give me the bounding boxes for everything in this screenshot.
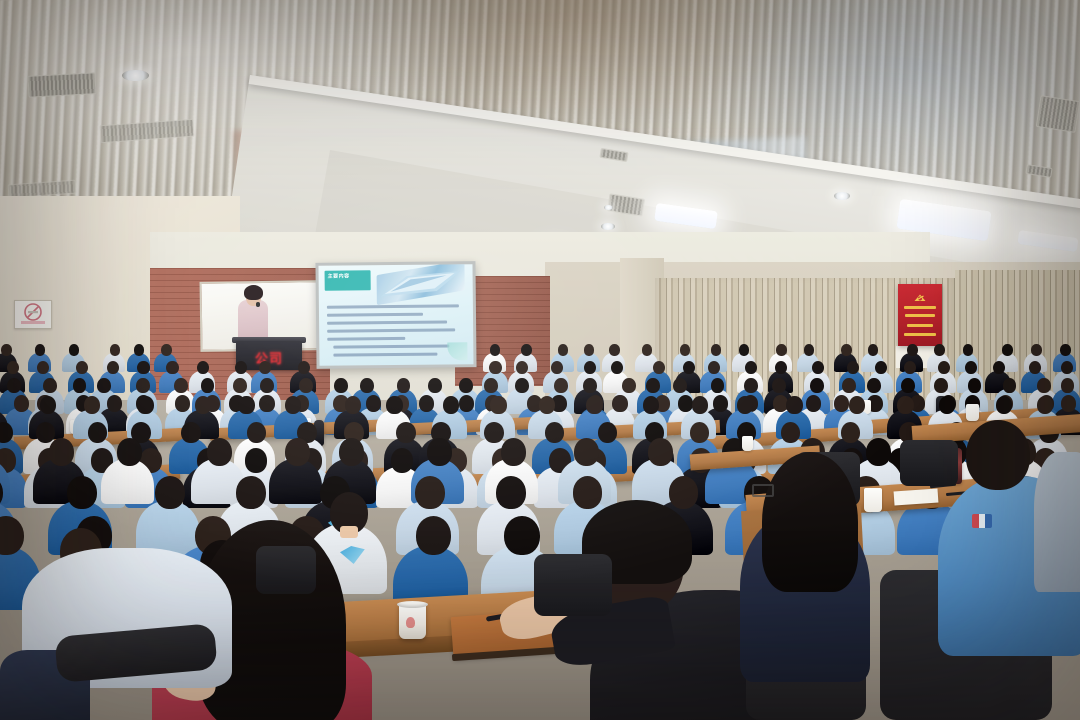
audience-head <box>360 378 374 393</box>
polo-logo-icon <box>972 514 992 528</box>
audience-head <box>7 378 21 393</box>
audience-head <box>1031 344 1042 356</box>
audience-head <box>574 438 599 466</box>
presenter-hair <box>244 285 263 300</box>
audience-head <box>14 395 29 412</box>
audience-head <box>117 438 142 466</box>
ceiling-vent <box>27 72 96 98</box>
audience-head <box>611 361 623 374</box>
audience-neck <box>200 372 206 376</box>
audience-head <box>516 361 528 374</box>
audience-neck <box>76 390 82 394</box>
audience-head <box>490 396 506 414</box>
audience-head <box>175 395 190 412</box>
audience-head <box>612 395 627 412</box>
audience-head <box>1037 378 1051 393</box>
ceiling-downlight <box>601 223 615 230</box>
audience-head <box>598 422 617 443</box>
banner-text-line <box>905 314 935 317</box>
audience-head <box>207 438 232 466</box>
audience-head <box>539 396 555 414</box>
audience-head <box>69 344 80 356</box>
audience-head <box>137 361 149 374</box>
audience-neck <box>1041 411 1048 416</box>
audience-neck <box>504 503 518 512</box>
slide-body-line <box>327 328 455 332</box>
audience-neck <box>677 503 691 512</box>
microphone-icon <box>256 302 260 307</box>
slide-body-line <box>327 337 405 341</box>
audience-head <box>386 396 402 414</box>
slide-header: 主要内容 <box>325 269 467 298</box>
paper-cup-rim <box>397 601 428 608</box>
audience-head <box>396 422 415 443</box>
audience-neck <box>508 460 519 468</box>
audience-head <box>849 396 865 414</box>
audience-head <box>739 344 750 356</box>
audience-head <box>642 344 653 356</box>
audience-head <box>236 476 266 509</box>
paper-cup-logo <box>406 617 415 628</box>
audience-head <box>586 396 602 414</box>
audience-head <box>1061 378 1075 393</box>
audience-head <box>489 361 501 374</box>
audience-head <box>260 378 274 393</box>
audience-head <box>584 361 596 374</box>
audience-head <box>966 420 1030 490</box>
audience-head <box>233 378 247 393</box>
lecture-hall-photo: 主要内容 <box>0 0 1080 720</box>
audience-head <box>181 422 200 443</box>
audience-head <box>134 344 145 356</box>
slide-body-line <box>333 353 437 357</box>
audience-head <box>484 422 503 443</box>
party-emblem-icon <box>913 291 928 302</box>
slide-title-badge: 主要内容 <box>325 270 371 290</box>
audience-head <box>558 344 569 356</box>
audience-head <box>683 361 695 374</box>
banner-text-line <box>904 333 936 336</box>
audience-head <box>673 378 687 393</box>
audience-neck <box>741 411 748 416</box>
audience-head <box>609 344 620 356</box>
audience-head <box>745 361 757 374</box>
audience-head <box>259 361 271 374</box>
audience-head <box>195 396 211 414</box>
audience-head <box>339 438 364 466</box>
audience-head <box>110 344 121 356</box>
audience-head <box>573 476 603 509</box>
audience-neck <box>56 460 67 468</box>
audience-head <box>708 361 720 374</box>
party-banner <box>898 284 942 346</box>
slide-body-line <box>327 320 447 324</box>
ceiling-downlight <box>604 205 613 210</box>
audience-head <box>772 378 786 393</box>
audience-neck <box>340 526 358 538</box>
black-office-chair <box>900 440 958 486</box>
audience-head <box>391 448 413 473</box>
audience-head <box>786 396 802 414</box>
audience-neck <box>238 372 244 376</box>
audience-head <box>521 344 532 356</box>
audience-neck <box>941 372 947 376</box>
audience-head <box>643 396 659 414</box>
audience-head <box>136 378 150 393</box>
audience-neck <box>291 460 302 468</box>
audience-head <box>963 344 974 356</box>
ceiling-vent <box>1036 95 1080 133</box>
audience-head <box>781 422 800 443</box>
audience-head <box>1 344 12 356</box>
audience-head <box>419 395 434 412</box>
audience-head <box>648 438 673 466</box>
audience-head <box>867 378 881 393</box>
audience-neck <box>779 372 785 376</box>
projection-screen[interactable]: 主要内容 <box>318 264 473 366</box>
paper-cup <box>864 488 882 512</box>
audience-head <box>84 396 100 414</box>
banner-text-line <box>904 306 936 309</box>
audience-head <box>515 378 529 393</box>
audience-head <box>1061 361 1073 374</box>
audience-head <box>1061 395 1076 412</box>
slide-title-text: 主要内容 <box>325 270 371 283</box>
audience-neck <box>164 353 169 356</box>
audience-neck <box>971 390 977 394</box>
slide-body-line <box>327 313 423 317</box>
audience-head <box>1002 344 1013 356</box>
audience-head <box>76 361 88 374</box>
audience-head <box>415 476 445 509</box>
audience-head <box>1003 378 1017 393</box>
audience-neck <box>846 439 855 445</box>
audience-head <box>711 378 725 393</box>
no-smoking-sign <box>14 300 52 329</box>
audience-head <box>939 396 955 414</box>
audience-head <box>554 378 568 393</box>
audience-neck <box>164 503 178 512</box>
audience-head <box>584 344 595 356</box>
audience-head <box>245 448 267 473</box>
audience-neck <box>695 439 704 445</box>
audience-neck <box>514 548 530 559</box>
audience-head <box>334 378 348 393</box>
audience-head <box>443 396 459 414</box>
audience-neck <box>44 411 51 416</box>
audience-neck <box>806 353 811 356</box>
audience-head <box>88 422 107 443</box>
audience-head <box>490 344 501 356</box>
audience-head <box>397 378 411 393</box>
audience-head <box>810 378 824 393</box>
audience-head <box>866 438 891 466</box>
ceiling-downlight <box>834 192 850 200</box>
audience-neck <box>252 439 261 445</box>
audience-head <box>428 378 442 393</box>
black-office-chair <box>534 554 612 616</box>
audience-head <box>427 438 452 466</box>
audience-neck <box>910 353 915 356</box>
audience-head <box>622 378 636 393</box>
audience-head <box>166 361 178 374</box>
audience-hair <box>762 452 858 592</box>
audience-head <box>1029 361 1041 374</box>
audience-head <box>934 378 948 393</box>
audience-neck <box>463 409 470 414</box>
audience-head <box>841 344 852 356</box>
audience-head <box>345 396 361 414</box>
audience-head <box>680 344 691 356</box>
audience-neck <box>289 411 296 416</box>
audience-neck <box>1063 353 1068 356</box>
eyeglasses-icon <box>752 484 774 497</box>
audience-head <box>934 344 945 356</box>
audience-head <box>298 361 310 374</box>
slide-photo-inset <box>377 264 465 305</box>
audience-head <box>238 396 254 414</box>
audience-torso <box>101 459 154 505</box>
audience-neck <box>38 353 43 356</box>
audience-head <box>137 396 153 414</box>
paper-cup <box>966 404 979 421</box>
audience-head <box>713 395 728 412</box>
audience-head <box>692 396 708 414</box>
audience-head <box>416 516 452 555</box>
audience-neighbour-person <box>1034 452 1080 592</box>
audience-head <box>583 378 597 393</box>
slide-body-line <box>327 304 459 308</box>
audience-neck <box>1000 411 1007 416</box>
audience-neck <box>111 409 118 414</box>
audience-head <box>43 378 57 393</box>
audience-neck <box>1045 439 1054 445</box>
audience-head <box>36 422 55 443</box>
audience-neck <box>850 372 856 376</box>
banner-text-line <box>907 324 933 327</box>
audience-head <box>201 378 215 393</box>
audience-head <box>812 361 824 374</box>
slide-body-line <box>333 344 449 348</box>
paper-cup <box>742 436 753 451</box>
audience-neck <box>370 409 377 414</box>
audience-head <box>67 476 97 509</box>
black-office-chair <box>256 546 316 594</box>
audience-head <box>37 361 49 374</box>
ceiling-downlight <box>122 70 149 81</box>
audience-neck <box>110 372 116 376</box>
audience-neck <box>810 409 817 414</box>
slide-corner-graphic <box>447 342 467 360</box>
audience-head <box>776 344 787 356</box>
audience-head <box>459 378 473 393</box>
audience-neck <box>902 411 909 416</box>
